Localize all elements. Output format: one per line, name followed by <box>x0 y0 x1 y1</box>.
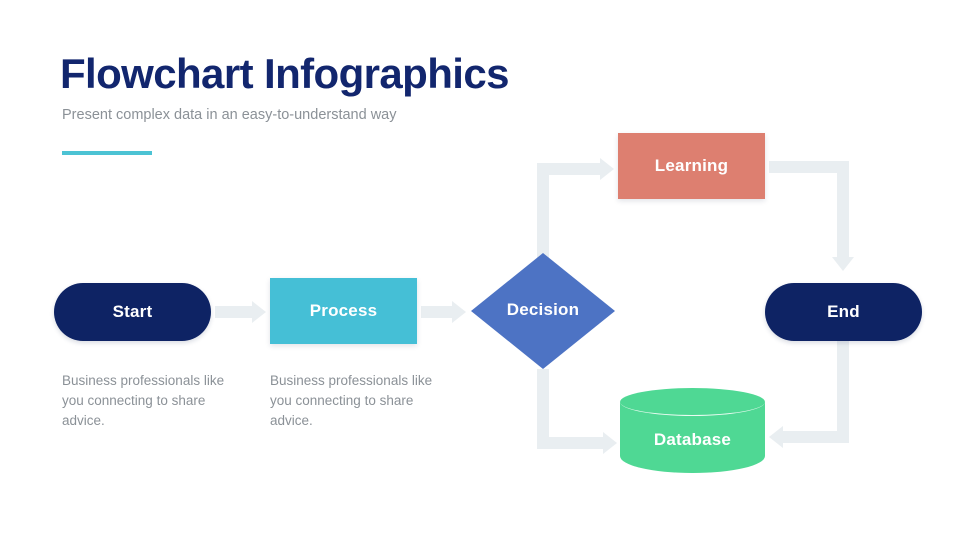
connector-decision-to-learning-horizontal <box>537 163 600 175</box>
diamond-shape <box>471 253 615 369</box>
flow-node-learning[interactable]: Learning <box>618 133 765 199</box>
title-accent-rule <box>62 151 152 155</box>
connector-learning-to-end-vertical <box>837 161 849 257</box>
flow-node-process-label: Process <box>270 301 417 321</box>
flow-node-decision[interactable]: Decision <box>471 253 615 369</box>
page-title: Flowchart Infographics <box>60 50 509 98</box>
connector-end-to-database-vertical <box>837 341 849 443</box>
connector-decision-to-database-arrowhead <box>603 432 617 454</box>
flow-node-end-label: End <box>765 302 922 322</box>
page-subtitle: Present complex data in an easy-to-under… <box>62 107 397 123</box>
flow-node-end[interactable]: End <box>765 283 922 341</box>
connector-learning-to-end-arrowhead <box>832 257 854 271</box>
connector-end-to-database-arrowhead <box>769 426 783 448</box>
caption-start: Business professionals like you connecti… <box>62 371 232 431</box>
flow-node-process[interactable]: Process <box>270 278 417 344</box>
connector-start-to-process-arrowhead <box>252 301 266 323</box>
connector-start-to-process-shaft <box>215 306 252 318</box>
flow-node-start[interactable]: Start <box>54 283 211 341</box>
flow-node-database[interactable]: Database <box>620 388 765 473</box>
cylinder-top-ellipse <box>620 388 765 416</box>
slide-canvas: Flowchart Infographics Present complex d… <box>0 0 980 551</box>
flow-node-start-label: Start <box>54 302 211 322</box>
caption-process: Business professionals like you connecti… <box>270 371 440 431</box>
connector-process-to-decision-shaft <box>421 306 452 318</box>
flow-node-learning-label: Learning <box>618 156 765 176</box>
connector-end-to-database-horizontal <box>783 431 849 443</box>
connector-decision-to-learning-arrowhead <box>600 158 614 180</box>
connector-process-to-decision-arrowhead <box>452 301 466 323</box>
connector-decision-to-learning-vertical <box>537 163 549 258</box>
connector-decision-to-database-horizontal <box>537 437 603 449</box>
